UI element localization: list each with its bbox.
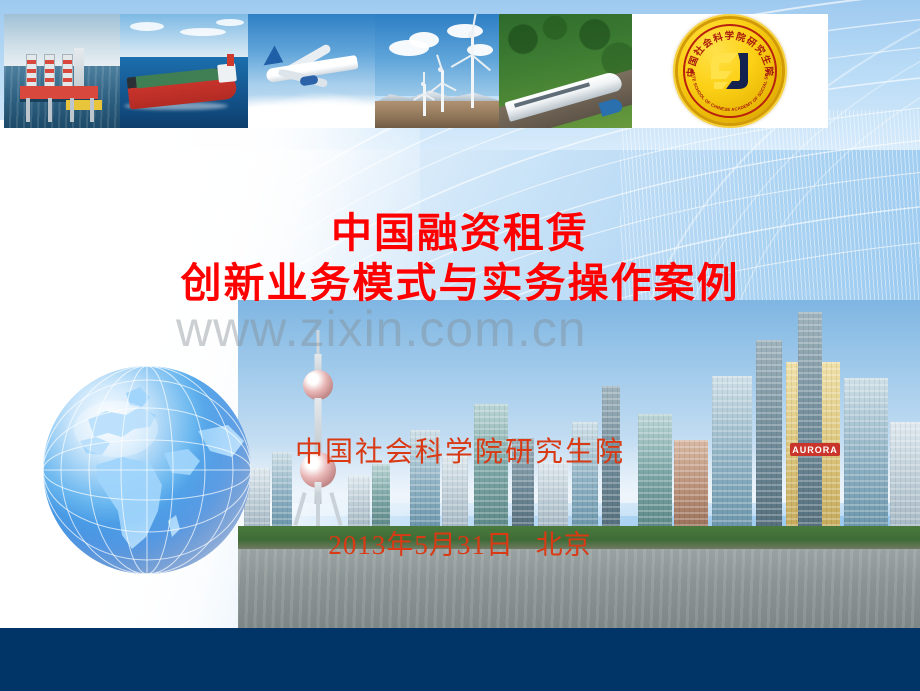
photo-high-speed-train <box>499 14 632 128</box>
graduate-school-seal-icon: 中国社会科学院研究生院 GRADUATE SCHOOL OF CHINESE A… <box>678 19 782 123</box>
photo-wind-turbines <box>375 14 499 128</box>
date-and-location: 2013年5月31日 北京 <box>0 523 920 562</box>
photo-institution-seal: 中国社会科学院研究生院 GRADUATE SCHOOL OF CHINESE A… <box>632 14 828 128</box>
slide-title: 中国融资租赁 创新业务模式与实务操作案例 <box>0 208 920 308</box>
footer-bar <box>0 628 920 691</box>
site-watermark: www.zixin.com.cn <box>176 300 776 358</box>
title-line-2: 创新业务模式与实务操作案例 <box>0 258 920 308</box>
presentation-date: 2013年5月31日 <box>328 530 514 560</box>
photo-passenger-airplane <box>248 14 375 128</box>
organization-name: 中国社会科学院研究生院 <box>0 430 920 470</box>
seal-emblem-icon <box>708 51 752 91</box>
presentation-slide: AURORA <box>0 0 920 691</box>
header-photo-strip: 中国社会科学院研究生院 GRADUATE SCHOOL OF CHINESE A… <box>4 14 828 128</box>
title-line-1: 中国融资租赁 <box>0 208 920 258</box>
oriental-pearl-tower <box>296 330 340 526</box>
photo-oil-tanker-ship <box>120 14 248 128</box>
photo-offshore-oil-rig <box>4 14 120 128</box>
presentation-city: 北京 <box>536 530 592 560</box>
